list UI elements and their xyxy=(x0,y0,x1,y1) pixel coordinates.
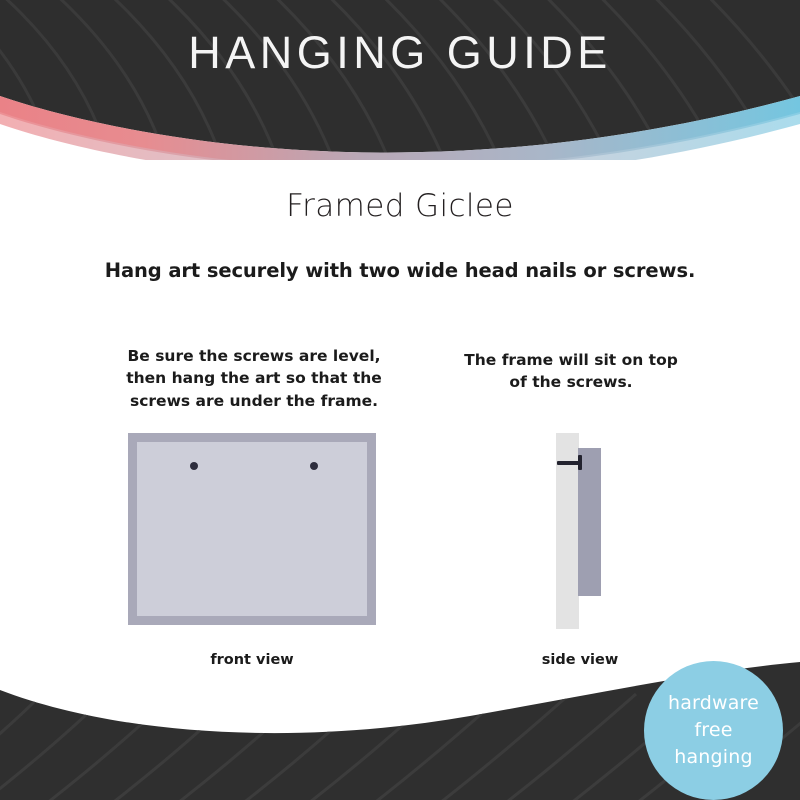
instruction-lede: Hang art securely with two wide head nai… xyxy=(0,259,800,282)
front-view-note-line-3: screws are under the frame. xyxy=(118,390,390,412)
side-view-note-line-2: of the screws. xyxy=(448,371,694,393)
header-banner: HANGING GUIDE xyxy=(0,0,800,160)
hardware-free-hanging-badge: hardware free hanging xyxy=(644,661,783,800)
front-view-note-line-1: Be sure the screws are level, xyxy=(118,345,390,367)
side-view-screw-head-icon xyxy=(578,455,582,470)
page-title: HANGING GUIDE xyxy=(0,30,800,75)
screw-dot-right-icon xyxy=(310,462,318,470)
badge-line-3: hanging xyxy=(674,744,753,771)
front-view-note: Be sure the screws are level, then hang … xyxy=(118,345,390,412)
side-view-note-line-1: The frame will sit on top xyxy=(448,349,694,371)
side-view-frame xyxy=(578,448,601,596)
badge-line-2: free xyxy=(694,717,732,744)
product-title: Framed Giclee xyxy=(0,188,800,224)
side-view-note: The frame will sit on top of the screws. xyxy=(448,349,694,394)
screw-dot-left-icon xyxy=(190,462,198,470)
front-view-artwork-area xyxy=(137,442,367,616)
front-view-frame-diagram xyxy=(128,433,376,625)
hanging-guide-page: HANGING GUIDE Framed Giclee Hang art sec… xyxy=(0,0,800,800)
front-view-note-line-2: then hang the art so that the xyxy=(118,367,390,389)
badge-line-1: hardware xyxy=(668,690,759,717)
header-wave-graphic xyxy=(0,0,800,160)
